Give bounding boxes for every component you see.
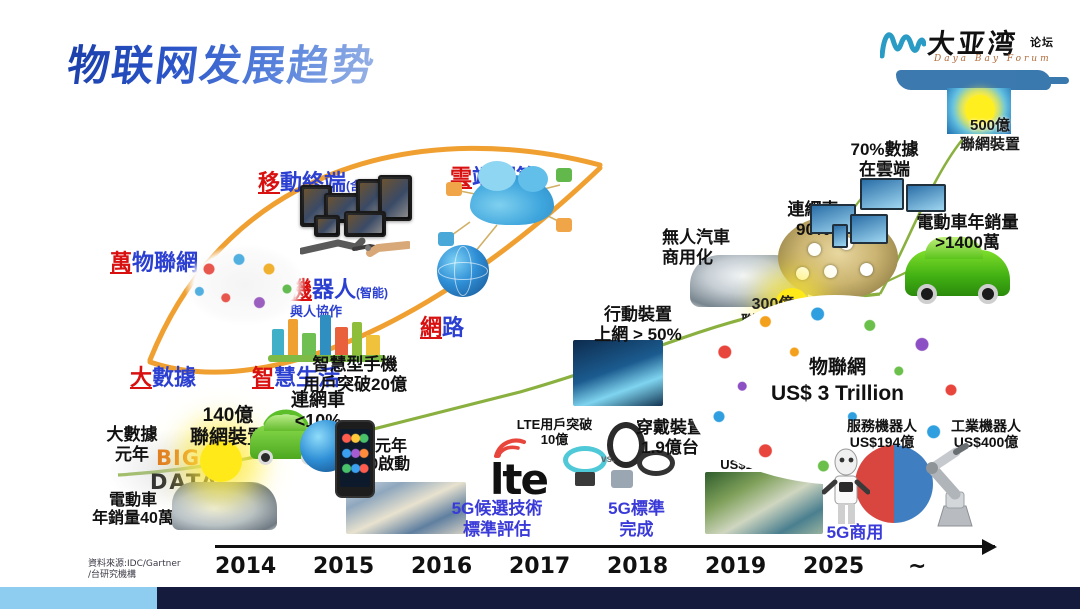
timeline-year-2018: 2018 [607,554,668,579]
phone-icon [314,215,340,237]
wave-icon [880,26,926,60]
milestone-ev-sales-2025: 電動車年銷量 >1400萬 [900,213,1035,252]
robot-hand-illustration [300,235,410,261]
footer-bar-light [0,587,157,609]
milestone-cloud-data-70: 70%數據 在雲端 [832,140,937,179]
timeline-axis [215,545,995,548]
timeline-year-2017: 2017 [509,554,570,579]
milestone-smartphone-2b: 智慧型手機 用戶突破20億 [280,355,430,394]
footer-bar-dark [157,587,1080,609]
vs-label: vs. [601,454,615,465]
logo-brushstroke [896,70,1051,90]
ev-car-illustration [905,250,1010,296]
milestone-5g-candidate: 5G候選技術 標準評估 [432,498,562,541]
cloud-node-icon [446,182,462,196]
lte-logo: lte [490,455,547,504]
mobile-devices-illustration [300,175,420,237]
milestone-5g-commercial: 5G商用 [800,522,910,543]
mobile-internet-photo [573,340,663,406]
monitor-icon [860,178,904,210]
milestone-bigdata-year: 大數據 元年 [86,425,178,464]
concept-label-dashuju: 大數據 [130,340,196,391]
milestone-5g-standard: 5G標準 完成 [584,498,689,541]
concept-label-wanglu: 網路 [420,290,464,341]
laptop-icon [906,184,946,212]
cloud-node-icon [438,232,454,246]
phone-icon [344,211,386,237]
cloud-node-icon [556,218,572,232]
network-globe-icon [437,245,489,297]
milestone-iot-value: 物聯網 US$ 3 Trillion [745,352,930,406]
slide-canvas: 物联网发展趋势 大亚湾 论坛 Daya Bay Forum 500億 聯網裝置 [0,0,1080,609]
smartphone-illustration [335,420,375,498]
milestone-mobile-internet-50: 行動裝置 上網 > 50% [578,305,698,344]
logo[interactable]: 大亚湾 论坛 Daya Bay Forum [880,18,1065,98]
milestone-autonomous-car: 無人汽車 商用化 [662,228,754,267]
monitor-icon [850,214,888,244]
phone-icon [832,224,848,248]
cloud-node-icon [556,168,572,182]
ev-car-photo [172,482,277,530]
logo-sub: 论坛 [1030,34,1054,50]
timeline-year-2025: 2025 [803,554,864,579]
smartwatch-icon [611,470,633,488]
cloud-computing-illustration [470,175,554,225]
logo-pinyin: Daya Bay Forum [934,54,1052,64]
timeline-year-2016: 2016 [411,554,472,579]
source-note: 資料來源:IDC/Gartner /台研究機構 [88,559,181,581]
industrial-robot-icon [912,440,998,532]
timeline-year-2014: 2014 [215,554,276,579]
timeline-year-beyond: ~ [908,554,926,579]
timeline-year-2019: 2019 [705,554,766,579]
page-title: 物联网发展趋势 [64,32,380,93]
service-robot-icon [822,448,870,526]
timeline-year-2015: 2015 [313,554,374,579]
smartwatch-icon [575,472,595,486]
hero-badge-text: 500億 聯網裝置 [945,116,1035,154]
